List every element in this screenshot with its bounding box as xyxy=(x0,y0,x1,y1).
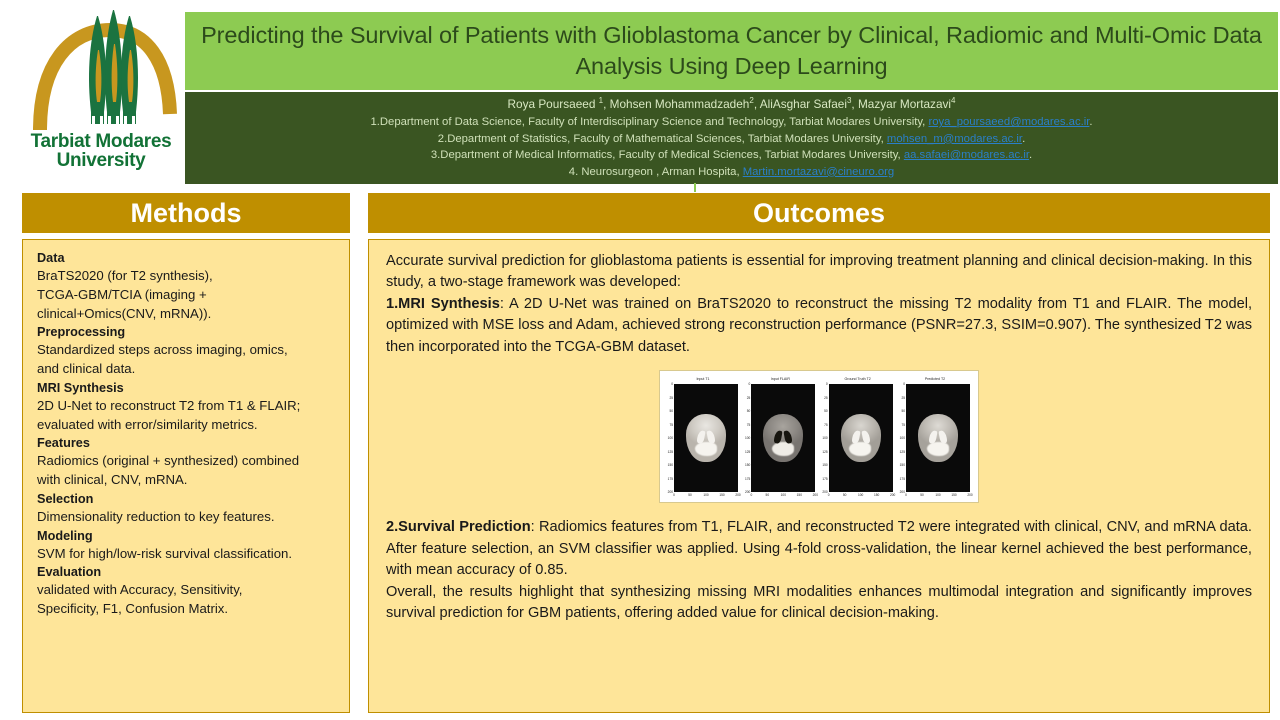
mri-panel-title: Input FLAIR xyxy=(742,375,818,384)
mri-y-tick-label: 25 xyxy=(669,396,673,400)
mri-y-tick-label: 175 xyxy=(668,477,673,481)
methods-item-text: TCGA-GBM/TCIA (imaging + xyxy=(37,286,339,305)
mri-y-tick-label: 75 xyxy=(901,423,905,427)
brain-ventricles xyxy=(852,431,869,444)
mri-x-tick-label: 0 xyxy=(905,493,907,497)
mri-y-tick-label: 50 xyxy=(901,409,905,413)
mri-x-tick-label: 150 xyxy=(874,493,879,497)
mri-y-tick-label: 0 xyxy=(671,382,673,386)
outcomes-panel: Accurate survival prediction for gliobla… xyxy=(368,239,1270,713)
brain-slice-image xyxy=(841,414,881,462)
brain-lesion-region xyxy=(695,442,717,456)
mri-x-tick-label: 150 xyxy=(951,493,956,497)
mri-y-tick-label: 150 xyxy=(900,463,905,467)
methods-item-text: and clinical data. xyxy=(37,360,339,379)
mri-y-tick-label: 125 xyxy=(822,450,827,454)
mri-panel-title: Ground Truth T2 xyxy=(820,375,896,384)
affiliation-line: 2.Department of Statistics, Faculty of M… xyxy=(185,131,1278,147)
methods-item-heading: MRI Synthesis xyxy=(37,379,339,397)
methods-item-heading: Data xyxy=(37,249,339,267)
logo-mark-icon xyxy=(18,6,184,138)
mri-y-tick-label: 100 xyxy=(668,436,673,440)
mri-x-axis: 050100150200 xyxy=(674,492,738,499)
outcomes-content: Accurate survival prediction for gliobla… xyxy=(369,240,1269,624)
mri-plot-area: 0255075100125150175200050100150200 xyxy=(674,384,738,492)
mri-x-axis: 050100150200 xyxy=(906,492,970,499)
mri-y-tick-label: 100 xyxy=(900,436,905,440)
mri-y-tick-label: 0 xyxy=(903,382,905,386)
mri-y-tick-label: 150 xyxy=(668,463,673,467)
mri-y-tick-label: 25 xyxy=(901,396,905,400)
methods-item-heading: Modeling xyxy=(37,527,339,545)
logo-svg xyxy=(18,6,184,138)
mri-y-tick-label: 175 xyxy=(900,477,905,481)
author-email-link[interactable]: aa.safaei@modares.ac.ir xyxy=(904,149,1029,161)
methods-item-text: clinical+Omics(CNV, mRNA)). xyxy=(37,305,339,324)
poster-root: Tarbiat Modares University Predicting th… xyxy=(0,0,1280,720)
author-email-link[interactable]: roya_poursaeed@modares.ac.ir xyxy=(928,116,1089,128)
point1-label: 1.MRI Synthesis xyxy=(386,296,500,312)
logo-wordmark: Tarbiat Modares University xyxy=(18,132,184,171)
outcomes-title: Outcomes xyxy=(753,198,885,229)
methods-item-text: Dimensionality reduction to key features… xyxy=(37,508,339,527)
mri-y-tick-label: 125 xyxy=(900,450,905,454)
university-logo: Tarbiat Modares University xyxy=(18,6,184,184)
mri-y-tick-label: 25 xyxy=(824,396,828,400)
methods-item-text: Standardized steps across imaging, omics… xyxy=(37,341,339,360)
mri-y-tick-label: 75 xyxy=(669,423,673,427)
methods-item-text: Specificity, F1, Confusion Matrix. xyxy=(37,600,339,619)
brain-lesion-region xyxy=(849,442,871,456)
author-names: Roya Poursaeed 1, Mohsen Mohammadzadeh2,… xyxy=(185,95,1278,114)
logo-line-2: University xyxy=(18,151,184,170)
author-email-link[interactable]: mohsen_m@modares.ac.ir xyxy=(887,133,1022,145)
mri-y-tick-label: 150 xyxy=(745,463,750,467)
brain-ventricles xyxy=(775,431,792,444)
author-name: AliAsghar Safaei xyxy=(760,97,847,111)
mri-panel: Predicted T20255075100125150175200050100… xyxy=(897,375,973,498)
title-connector-tick xyxy=(694,183,696,192)
mri-y-axis: 0255075100125150175200 xyxy=(820,384,829,492)
mri-panel-title: Predicted T2 xyxy=(897,375,973,384)
page-title: Predicting the Survival of Patients with… xyxy=(199,20,1264,81)
methods-item-text: 2D U-Net to reconstruct T2 from T1 & FLA… xyxy=(37,397,339,416)
affiliation-line: 1.Department of Data Science, Faculty of… xyxy=(185,114,1278,130)
brain-ventricles xyxy=(698,431,715,444)
mri-y-tick-label: 50 xyxy=(669,409,673,413)
methods-panel: DataBraTS2020 (for T2 synthesis),TCGA-GB… xyxy=(22,239,350,713)
mri-plot-area: 0255075100125150175200050100150200 xyxy=(751,384,815,492)
affiliation-text: 3.Department of Medical Informatics, Fac… xyxy=(431,149,904,161)
brain-slice-image xyxy=(686,414,726,462)
affiliation-text: 4. Neurosurgeon , Arman Hospita, xyxy=(569,166,743,178)
affiliation-suffix: . xyxy=(1022,133,1025,145)
methods-item-text: with clinical, CNV, mRNA. xyxy=(37,471,339,490)
mri-y-tick-label: 125 xyxy=(668,450,673,454)
methods-item-text: validated with Accuracy, Sensitivity, xyxy=(37,581,339,600)
methods-item-text: SVM for high/low-risk survival classific… xyxy=(37,545,339,564)
mri-x-tick-label: 50 xyxy=(920,493,924,497)
affiliation-list: 1.Department of Data Science, Faculty of… xyxy=(185,114,1278,180)
author-name: Roya Poursaeed xyxy=(508,97,599,111)
brain-slice-image xyxy=(763,414,803,462)
mri-y-tick-label: 25 xyxy=(747,396,751,400)
mri-y-tick-label: 125 xyxy=(745,450,750,454)
mri-y-tick-label: 175 xyxy=(745,477,750,481)
affiliation-line: 4. Neurosurgeon , Arman Hospita, Martin.… xyxy=(185,164,1278,180)
mri-x-tick-label: 50 xyxy=(843,493,847,497)
methods-item-text: evaluated with error/similarity metrics. xyxy=(37,416,339,435)
mri-y-tick-label: 75 xyxy=(747,423,751,427)
brain-lesion-region xyxy=(927,442,949,456)
author-affiliation-marker: 4 xyxy=(951,96,955,105)
mri-y-tick-label: 75 xyxy=(824,423,828,427)
outcomes-point-1: 1.MRI Synthesis: A 2D U-Net was trained … xyxy=(386,294,1252,358)
mri-panel: Input FLAIR02550751001251501752000501001… xyxy=(742,375,818,498)
affiliation-text: 1.Department of Data Science, Faculty of… xyxy=(370,116,928,128)
mri-x-tick-label: 200 xyxy=(813,493,818,497)
methods-item-heading: Features xyxy=(37,434,339,452)
author-name: Mazyar Mortazavi xyxy=(858,97,951,111)
outcomes-closing-paragraph: Overall, the results highlight that synt… xyxy=(386,582,1252,625)
outcomes-section-header: Outcomes xyxy=(368,193,1270,233)
mri-x-tick-label: 50 xyxy=(688,493,692,497)
methods-content: DataBraTS2020 (for T2 synthesis),TCGA-GB… xyxy=(23,240,349,619)
point1-body: : A 2D U-Net was trained on BraTS2020 to… xyxy=(386,296,1252,355)
mri-y-axis: 0255075100125150175200 xyxy=(665,384,674,492)
mri-x-tick-label: 100 xyxy=(935,493,940,497)
methods-item-text: Radiomics (original + synthesized) combi… xyxy=(37,452,339,471)
brain-ventricles xyxy=(929,431,946,444)
mri-x-tick-label: 0 xyxy=(673,493,675,497)
point2-label: 2.Survival Prediction xyxy=(386,519,531,535)
mri-y-tick-label: 100 xyxy=(745,436,750,440)
logo-line-1: Tarbiat Modares xyxy=(18,132,184,151)
mri-x-tick-label: 200 xyxy=(890,493,895,497)
affiliation-line: 3.Department of Medical Informatics, Fac… xyxy=(185,147,1278,163)
mri-x-tick-label: 200 xyxy=(735,493,740,497)
methods-item-heading: Selection xyxy=(37,490,339,508)
mri-x-axis: 050100150200 xyxy=(751,492,815,499)
mri-x-tick-label: 0 xyxy=(750,493,752,497)
mri-y-tick-label: 50 xyxy=(824,409,828,413)
mri-y-axis: 0255075100125150175200 xyxy=(742,384,751,492)
brain-lesion-region xyxy=(772,442,794,456)
mri-y-axis: 0255075100125150175200 xyxy=(897,384,906,492)
mri-x-tick-label: 100 xyxy=(858,493,863,497)
outcomes-intro-paragraph: Accurate survival prediction for gliobla… xyxy=(386,251,1252,294)
mri-x-tick-label: 0 xyxy=(828,493,830,497)
brain-slice-image xyxy=(918,414,958,462)
mri-panel-title: Input T1 xyxy=(665,375,741,384)
mri-synthesis-comparison-figure: Input T102550751001251501752000501001502… xyxy=(659,370,979,503)
mri-plot-area: 0255075100125150175200050100150200 xyxy=(829,384,893,492)
authors-affiliations-bar: Roya Poursaeed 1, Mohsen Mohammadzadeh2,… xyxy=(185,92,1278,184)
mri-x-tick-label: 150 xyxy=(719,493,724,497)
mri-y-tick-label: 0 xyxy=(749,382,751,386)
mri-x-tick-label: 100 xyxy=(703,493,708,497)
mri-plot-area: 0255075100125150175200050100150200 xyxy=(906,384,970,492)
methods-section-header: Methods xyxy=(22,193,350,233)
mri-x-tick-label: 100 xyxy=(781,493,786,497)
affiliation-text: 2.Department of Statistics, Faculty of M… xyxy=(438,133,887,145)
mri-x-tick-label: 150 xyxy=(797,493,802,497)
mri-panel: Input T102550751001251501752000501001502… xyxy=(665,375,741,498)
outcomes-point-2: 2.Survival Prediction: Radiomics feature… xyxy=(386,517,1252,581)
methods-item-text: BraTS2020 (for T2 synthesis), xyxy=(37,267,339,286)
mri-y-tick-label: 175 xyxy=(822,477,827,481)
mri-y-tick-label: 100 xyxy=(822,436,827,440)
mri-x-tick-label: 50 xyxy=(766,493,770,497)
affiliation-suffix: . xyxy=(1029,149,1032,161)
affiliation-suffix: . xyxy=(1089,116,1092,128)
author-email-link[interactable]: Martin.mortazavi@cineuro.org xyxy=(743,166,894,178)
mri-y-tick-label: 150 xyxy=(822,463,827,467)
mri-y-tick-label: 0 xyxy=(826,382,828,386)
methods-item-heading: Preprocessing xyxy=(37,323,339,341)
methods-item-heading: Evaluation xyxy=(37,563,339,581)
methods-title: Methods xyxy=(131,198,242,229)
mri-panel: Ground Truth T20255075100125150175200050… xyxy=(820,375,896,498)
mri-x-axis: 050100150200 xyxy=(829,492,893,499)
poster-title-bar: Predicting the Survival of Patients with… xyxy=(185,12,1278,90)
author-name: Mohsen Mohammadzadeh xyxy=(610,97,750,111)
mri-y-tick-label: 50 xyxy=(747,409,751,413)
mri-x-tick-label: 200 xyxy=(967,493,972,497)
